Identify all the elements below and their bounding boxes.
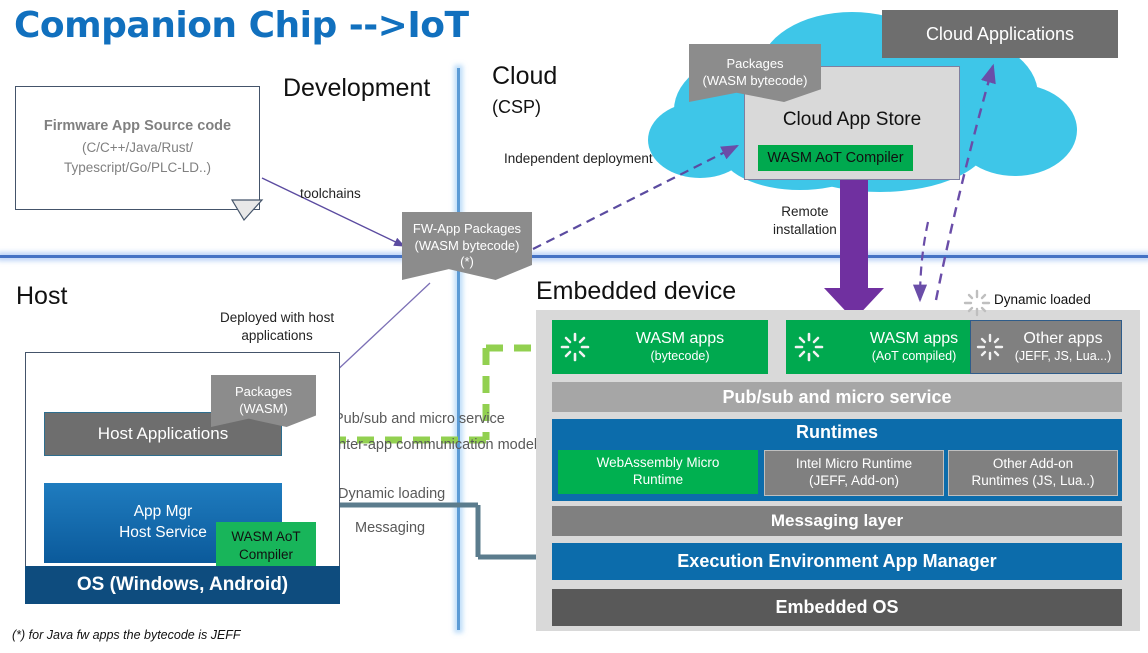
firmware-source-langs: (C/C++/Java/Rust/ Typescript/Go/PLC-LD..… bbox=[64, 138, 211, 177]
label-deployed-with-host: Deployed with host applications bbox=[220, 309, 334, 345]
host-os-box[interactable]: OS (Windows, Android) bbox=[25, 566, 340, 604]
label-inter-app-communication: Inter-app communication models bbox=[334, 437, 544, 453]
spinner-icon bbox=[975, 332, 1005, 362]
embedded-runtimes-box: Runtimes WebAssembly Micro Runtime Intel… bbox=[552, 419, 1122, 501]
label-remote-installation: Remote installation bbox=[773, 203, 837, 238]
embedded-app-wasm-bytecode[interactable]: WASM apps (bytecode) bbox=[552, 320, 768, 374]
embedded-os-bar[interactable]: Embedded OS bbox=[552, 589, 1122, 626]
callout-fw-app-packages: FW-App Packages (WASM bytecode) (*) bbox=[402, 212, 532, 280]
cloud-applications-label: Cloud Applications bbox=[926, 24, 1074, 45]
runtime-intel-micro[interactable]: Intel Micro Runtime (JEFF, Add-on) bbox=[764, 450, 944, 496]
zone-label-development: Development bbox=[283, 74, 430, 103]
cloud-wasm-aot-compiler-box[interactable]: WASM AoT Compiler bbox=[758, 145, 913, 171]
zone-label-cloud-sub: (CSP) bbox=[492, 97, 541, 118]
slide-canvas: Companion Chip -->IoT Development Cloud … bbox=[0, 0, 1148, 653]
embedded-runtimes-title: Runtimes bbox=[552, 422, 1122, 443]
zone-label-embedded-device: Embedded device bbox=[536, 277, 736, 306]
embedded-app-other[interactable]: Other apps (JEFF, JS, Lua...) bbox=[970, 320, 1122, 374]
label-toolchains: toolchains bbox=[300, 186, 361, 201]
spinner-icon bbox=[792, 330, 826, 364]
arrow-cloud-to-device bbox=[920, 222, 928, 300]
firmware-source-box[interactable]: Firmware App Source code (C/C++/Java/Rus… bbox=[15, 86, 260, 210]
embedded-messaging-layer-bar[interactable]: Messaging layer bbox=[552, 506, 1122, 536]
page-title: Companion Chip -->IoT bbox=[14, 2, 654, 48]
label-independent-deployment: Independent deployment bbox=[504, 151, 653, 166]
embedded-app-label: Other apps (JEFF, JS, Lua...) bbox=[1005, 329, 1121, 365]
cloud-wasm-aot-compiler-label: WASM AoT Compiler bbox=[767, 150, 903, 166]
host-wasm-aot-compiler-box[interactable]: WASM AoT Compiler bbox=[216, 522, 316, 570]
zone-label-cloud: Cloud bbox=[492, 62, 557, 91]
app-mgr-host-service-label: App Mgr Host Service bbox=[119, 502, 207, 544]
label-pubsub-micro-service: Pub/sub and micro service bbox=[334, 411, 505, 427]
runtime-other-addon[interactable]: Other Add-on Runtimes (JS, Lua..) bbox=[948, 450, 1118, 496]
embedded-execution-env-app-manager-bar[interactable]: Execution Environment App Manager bbox=[552, 543, 1122, 580]
zone-label-host: Host bbox=[16, 282, 67, 311]
callout-host-packages: Packages (WASM) bbox=[211, 375, 316, 427]
embedded-app-label: WASM apps (bytecode) bbox=[592, 329, 768, 365]
spinner-icon bbox=[558, 330, 592, 364]
vertical-divider bbox=[457, 68, 460, 630]
runtime-webassembly-micro[interactable]: WebAssembly Micro Runtime bbox=[558, 450, 758, 494]
firmware-source-title: Firmware App Source code bbox=[44, 118, 231, 134]
callout-cloud-packages: Packages (WASM bytecode) bbox=[689, 44, 821, 102]
host-wasm-aot-compiler-label: WASM AoT Compiler bbox=[231, 528, 300, 564]
host-applications-label: Host Applications bbox=[98, 424, 228, 444]
cloud-applications-box[interactable]: Cloud Applications bbox=[882, 10, 1118, 58]
label-messaging: Messaging bbox=[355, 520, 425, 536]
legend-dynamic-loaded: Dynamic loaded bbox=[994, 292, 1091, 307]
footnote: (*) for Java fw apps the bytecode is JEF… bbox=[12, 628, 241, 642]
embedded-pubsub-bar[interactable]: Pub/sub and micro service bbox=[552, 382, 1122, 412]
cloud-app-store-title: Cloud App Store bbox=[745, 109, 959, 131]
horizontal-divider bbox=[0, 255, 1148, 258]
host-os-label: OS (Windows, Android) bbox=[77, 574, 288, 596]
label-dynamic-loading: Dynamic loading bbox=[338, 486, 445, 502]
